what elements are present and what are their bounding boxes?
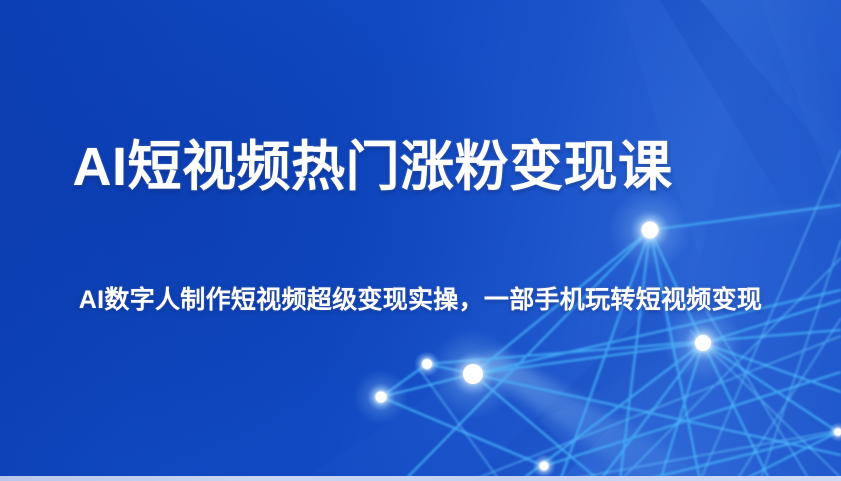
network-graphic: [0, 0, 841, 481]
bottom-accent-strip: [0, 476, 841, 481]
page-title: AI短视频热门涨粉变现课: [0, 140, 841, 194]
page-subtitle: AI数字人制作短视频超级变现实操，一部手机玩转短视频变现: [0, 288, 841, 313]
course-banner: AI短视频热门涨粉变现课 AI数字人制作短视频超级变现实操，一部手机玩转短视频变…: [0, 0, 841, 481]
